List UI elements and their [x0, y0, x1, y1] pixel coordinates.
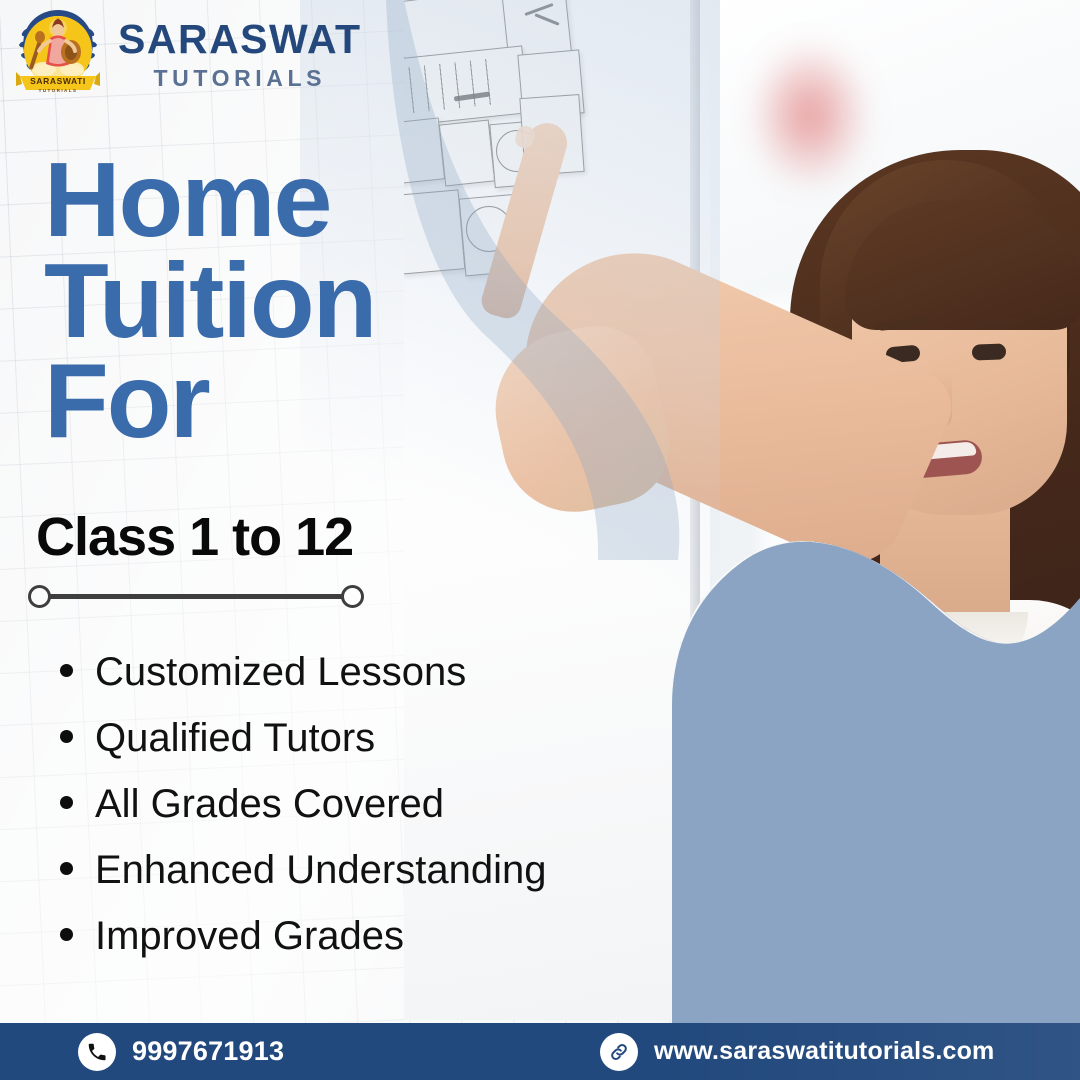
link-icon: [600, 1033, 638, 1071]
bullet-dot-icon: [60, 664, 73, 677]
photo-eye: [972, 343, 1007, 360]
list-item: Customized Lessons: [60, 650, 546, 695]
list-item: Qualified Tutors: [60, 716, 546, 761]
divider-left-circle-icon: [28, 585, 51, 608]
brand-name-main: SARASWAT: [118, 19, 362, 60]
svg-text:TUTORIALS: TUTORIALS: [39, 88, 78, 93]
phone-number: 9997671913: [132, 1036, 284, 1067]
bullet-dot-icon: [60, 796, 73, 809]
feature-label: Enhanced Understanding: [95, 848, 546, 893]
brand-name-sub: TUTORIALS: [118, 67, 362, 90]
website-contact[interactable]: www.saraswatitutorials.com: [600, 1033, 995, 1071]
svg-text:SARASWATI: SARASWATI: [30, 76, 86, 86]
brand-wordmark: SARASWAT TUTORIALS: [118, 15, 362, 90]
poster-canvas: SARASWATI TUTORIALS SARASWAT TUTORIALS H…: [0, 0, 1080, 1080]
page-title: Home Tuition For: [44, 150, 564, 452]
phone-icon: [78, 1033, 116, 1071]
feature-label: Customized Lessons: [95, 650, 466, 695]
brand-logo[interactable]: SARASWATI TUTORIALS SARASWAT TUTORIALS: [12, 6, 362, 98]
headline-line-1: Home: [44, 150, 564, 251]
feature-label: Qualified Tutors: [95, 716, 375, 761]
saraswati-goddess-emblem-icon: SARASWATI TUTORIALS: [12, 6, 104, 98]
phone-contact[interactable]: 9997671913: [78, 1033, 284, 1071]
feature-list: Customized Lessons Qualified Tutors All …: [60, 650, 546, 980]
feature-label: Improved Grades: [95, 914, 404, 959]
divider-right-circle-icon: [341, 585, 364, 608]
website-url: www.saraswatitutorials.com: [654, 1037, 995, 1066]
photo-red-blur: [750, 40, 870, 190]
bullet-dot-icon: [60, 730, 73, 743]
divider: [28, 586, 364, 606]
contact-footer: 9997671913 www.saraswatitutorials.com: [0, 1023, 1080, 1080]
feature-label: All Grades Covered: [95, 782, 444, 827]
subtitle: Class 1 to 12: [36, 506, 353, 568]
list-item: Enhanced Understanding: [60, 848, 546, 893]
bullet-dot-icon: [60, 928, 73, 941]
list-item: Improved Grades: [60, 914, 546, 959]
headline-line-3: For: [44, 351, 564, 452]
divider-line: [50, 594, 342, 599]
list-item: All Grades Covered: [60, 782, 546, 827]
bullet-dot-icon: [60, 862, 73, 875]
headline-line-2: Tuition: [44, 251, 564, 352]
